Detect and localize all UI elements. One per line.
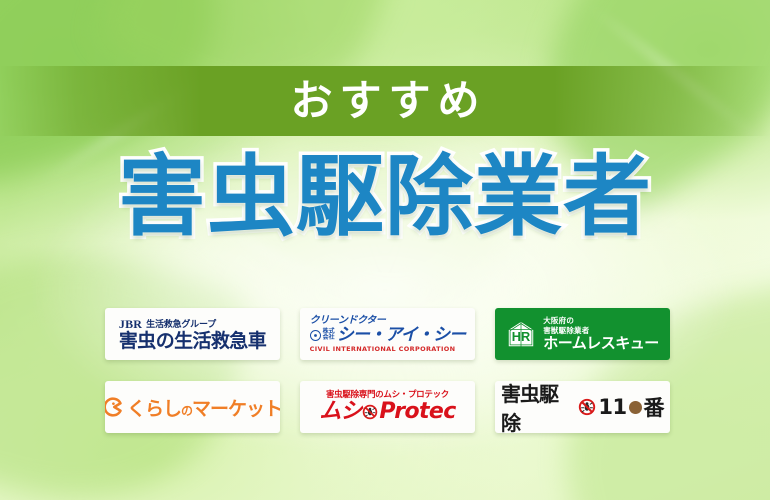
logo-card-mushi-protec[interactable]: 害虫駆除専門のムシ・プロテック ムシ Protec <box>300 381 475 433</box>
kurashi-part-2: マーケット <box>192 398 280 420</box>
logo-card-home-rescue[interactable]: HR 大阪府の 害獣駆除業者 ホームレスキュー <box>495 308 670 360</box>
protec-part-1: ムシ <box>319 401 361 423</box>
logo-card-kurashi-no-market[interactable]: くらしのマーケット <box>105 381 280 433</box>
cic-main-name: シー・アイ・シー <box>337 327 466 344</box>
cic-circle-badge-icon <box>310 330 321 341</box>
protec-tagline: 害虫駆除専門のムシ・プロテック <box>319 391 455 400</box>
hr-house-icon: HR <box>506 319 536 349</box>
no-bug-icon <box>362 404 378 420</box>
kurashi-part-1: くらし <box>127 398 181 420</box>
hr-line-2: 害獣駆除業者 <box>543 327 659 335</box>
page-title-text: 害虫駆除業者 <box>118 150 652 243</box>
no-bug-icon <box>578 398 596 416</box>
ban-part-2: 11 <box>598 395 626 419</box>
logo-card-cic[interactable]: クリーンドクター 株式 会社 シー・アイ・シー CIVIL INTERNATIO… <box>300 308 475 360</box>
ban-part-3: 番 <box>644 392 665 422</box>
jbr-main-name: 害虫の生活救急車 <box>119 332 266 351</box>
cic-english-name: CIVIL INTERNATIONAL CORPORATION <box>310 346 466 353</box>
partner-logo-grid: JBR 生活救急グループ 害虫の生活救急車 クリーンドクター 株式 会社 <box>105 308 670 433</box>
recommendation-ribbon: おすすめ <box>0 66 770 136</box>
ribbon-label: おすすめ <box>283 80 486 122</box>
jbr-brand-text: JBR <box>119 318 142 330</box>
jbr-tagline: 生活救急グループ <box>146 321 216 330</box>
hr-line-1: 大阪府の <box>543 317 659 325</box>
protec-part-2: Protec <box>379 401 455 423</box>
hero-banner: おすすめ 害虫駆除業者 JBR 生活救急グループ 害虫の生活救急車 クリーンドク… <box>0 0 770 500</box>
ban-part-1: 害虫駆除 <box>501 381 576 433</box>
kurashi-main-name: くらしのマーケット <box>127 394 280 421</box>
hr-main-name: ホームレスキュー <box>543 336 659 351</box>
ban-zero-circle <box>629 401 642 414</box>
svg-text:HR: HR <box>512 329 530 344</box>
cic-company-prefix-2: 会社 <box>323 335 335 341</box>
logo-card-110ban[interactable]: 害虫駆除 11 番 <box>495 381 670 433</box>
page-title: 害虫駆除業者 <box>0 150 770 243</box>
logo-card-jbr[interactable]: JBR 生活救急グループ 害虫の生活救急車 <box>105 308 280 360</box>
kurashi-mascot-icon <box>105 397 123 417</box>
kurashi-no: の <box>181 404 192 418</box>
